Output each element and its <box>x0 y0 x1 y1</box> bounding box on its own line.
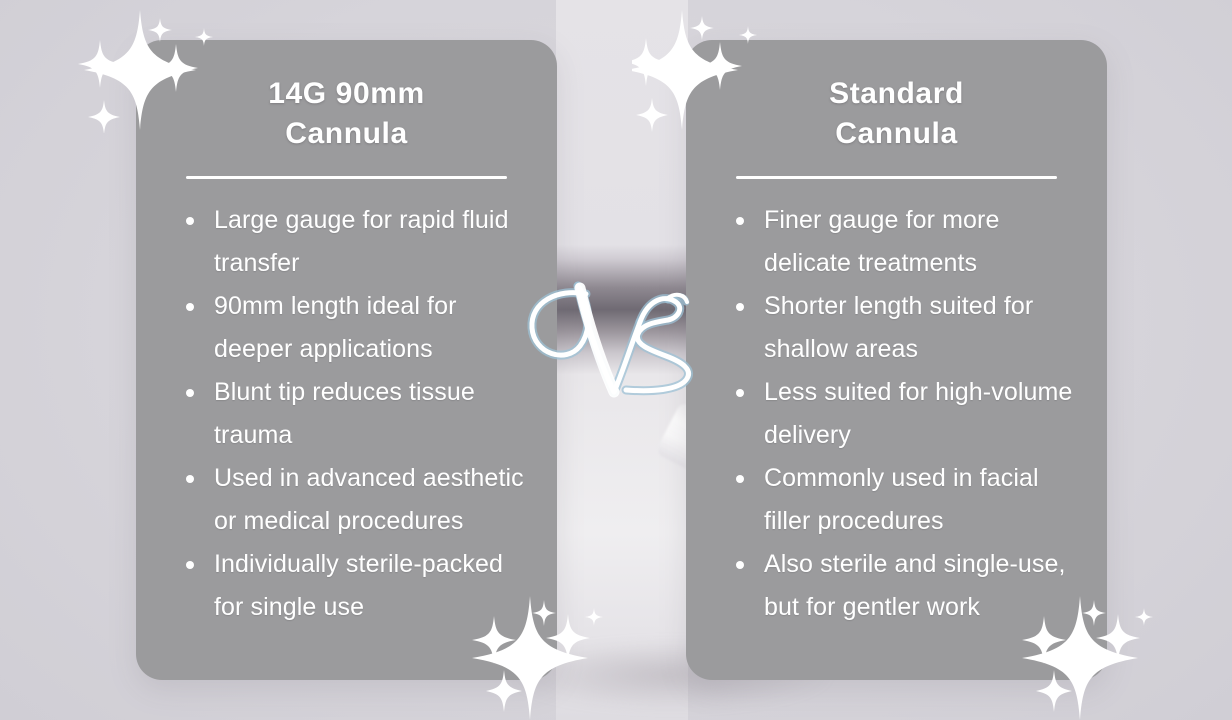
card-left-title-line2: Cannula <box>196 114 497 154</box>
card-left-bullet-list: Large gauge for rapid fluid transfer 90m… <box>166 199 527 629</box>
versus-monogram-icon <box>518 272 718 402</box>
comparison-card-left: 14G 90mm Cannula Large gauge for rapid f… <box>136 40 557 680</box>
list-item: Also sterile and single-use, but for gen… <box>730 543 1077 629</box>
card-right-bullet-list: Finer gauge for more delicate treatments… <box>716 199 1077 629</box>
card-right-title-line1: Standard <box>746 74 1047 114</box>
list-item: Large gauge for rapid fluid transfer <box>180 199 527 285</box>
list-item: Used in advanced aesthetic or medical pr… <box>180 457 527 543</box>
sparkle-icon <box>88 100 120 133</box>
list-item: Shorter length suited for shallow areas <box>730 285 1077 371</box>
card-right-title: Standard Cannula <box>716 74 1077 154</box>
comparison-card-right: Standard Cannula Finer gauge for more de… <box>686 40 1107 680</box>
poster-canvas: 2 2.5 14G 90mm Cannula Large gauge for r… <box>0 0 1232 720</box>
card-right-divider <box>736 176 1057 179</box>
card-left-title: 14G 90mm Cannula <box>166 74 527 154</box>
card-left-divider <box>186 176 507 179</box>
list-item: 90mm length ideal for deeper application… <box>180 285 527 371</box>
sparkle-icon <box>690 16 714 40</box>
card-left-title-line1: 14G 90mm <box>196 74 497 114</box>
list-item: Blunt tip reduces tissue trauma <box>180 371 527 457</box>
sparkle-icon <box>148 18 172 42</box>
list-item: Individually sterile-packed for single u… <box>180 543 527 629</box>
card-right-title-line2: Cannula <box>746 114 1047 154</box>
sparkle-icon <box>78 40 122 88</box>
list-item: Less suited for high-volume delivery <box>730 371 1077 457</box>
sparkle-icon <box>1135 608 1153 626</box>
list-item: Commonly used in facial filler procedure… <box>730 457 1077 543</box>
list-item: Finer gauge for more delicate treatments <box>730 199 1077 285</box>
